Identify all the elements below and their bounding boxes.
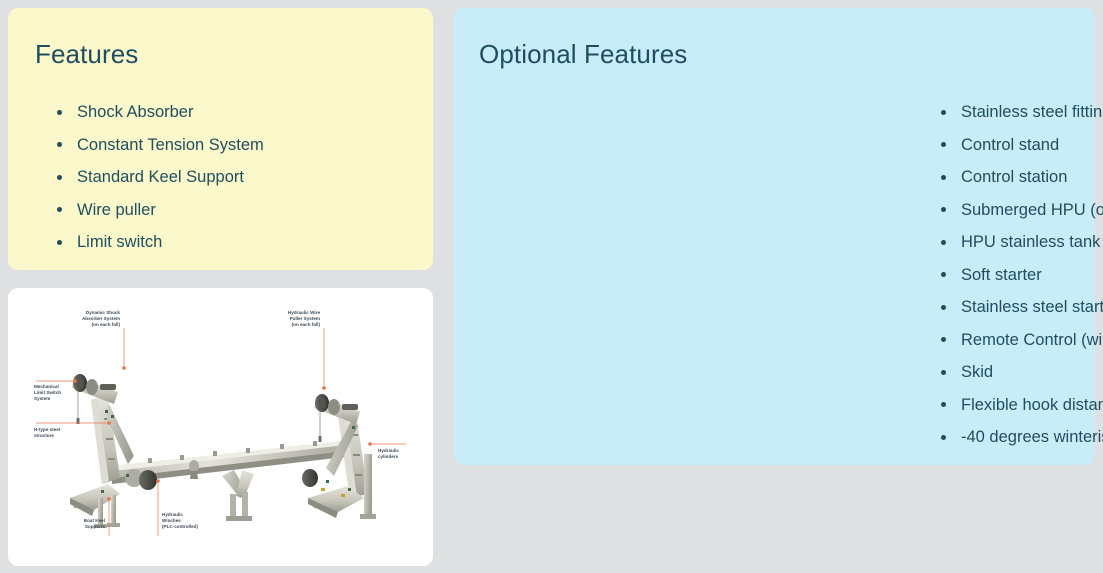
list-item: Soft starter <box>937 259 1103 292</box>
list-item: Flexible hook distance <box>937 389 1103 422</box>
annotation-label: Puller System <box>290 316 320 321</box>
davit-system-diagram: Dynamic Shock Absorber System (on each f… <box>8 288 433 566</box>
features-list: Shock Absorber Constant Tension System S… <box>53 96 264 259</box>
annotation-label: Mechanical <box>34 384 59 389</box>
list-item: Skid <box>937 356 1103 389</box>
list-item-label: Submerged HPU (or top mounted for outdoo… <box>961 201 1103 219</box>
list-item-label: Shock Absorber <box>77 103 193 121</box>
bullet-icon <box>57 207 62 212</box>
bullet-icon <box>941 175 946 180</box>
list-item: Shock Absorber <box>53 96 264 129</box>
list-item-label: Flexible hook distance <box>961 396 1103 414</box>
list-item-label: Control stand <box>961 136 1059 154</box>
bullet-icon <box>941 272 946 277</box>
annotation-label: Dynamic Shock <box>86 310 121 315</box>
list-item: -40 degrees winterisation <box>937 421 1103 454</box>
bullet-icon <box>941 402 946 407</box>
features-panel: Features Shock Absorber Constant Tension… <box>8 8 433 270</box>
optional-features-panel-title: Optional Features <box>479 39 687 70</box>
optional-features-panel: Optional Features Stainless steel fittin… <box>454 8 1095 465</box>
annotation-dynamic-shock-absorber: Dynamic Shock Absorber System (on each f… <box>82 310 126 370</box>
list-item: Submerged HPU (or top mounted for outdoo… <box>937 194 1103 227</box>
list-item-label: Limit switch <box>77 233 162 251</box>
list-item: Limit switch <box>53 226 264 259</box>
list-item-label: Constant Tension System <box>77 136 264 154</box>
annotation-label: structure <box>34 433 54 438</box>
bullet-icon <box>941 435 946 440</box>
list-item-label: Soft starter <box>961 266 1042 284</box>
bullet-icon <box>941 337 946 342</box>
bullet-icon <box>57 175 62 180</box>
list-item: Wire puller <box>53 194 264 227</box>
bullet-icon <box>941 110 946 115</box>
annotation-label: Boat Keel <box>84 518 105 523</box>
list-item: HPU stainless tank <box>937 226 1103 259</box>
list-item: Stainless steel fittings <box>937 96 1103 129</box>
annotation-label: H-type steel <box>34 427 60 432</box>
page-root: Features Shock Absorber Constant Tension… <box>0 0 1103 573</box>
bullet-icon <box>57 240 62 245</box>
list-item-label: Standard Keel Support <box>77 168 244 186</box>
list-item-label: -40 degrees winterisation <box>961 428 1103 446</box>
list-item: Control station <box>937 161 1103 194</box>
list-item-label: Skid <box>961 363 993 381</box>
list-item-label: Control station <box>961 168 1067 186</box>
annotation-label: (on each fall) <box>292 322 321 327</box>
list-item: Constant Tension System <box>53 129 264 162</box>
bullet-icon <box>941 142 946 147</box>
list-item-label: Remote Control (wired or wireless) <box>961 331 1103 349</box>
annotation-label: Hydraulic <box>378 448 399 453</box>
list-item-label: Stainless steel fittings <box>961 103 1103 121</box>
bullet-icon <box>941 240 946 245</box>
annotation-label: Hydraulic <box>162 512 183 517</box>
list-item: Control stand <box>937 129 1103 162</box>
annotation-mechanical-limit-switch: Mechanical Limit Switch System <box>34 379 77 401</box>
list-item-label: Stainless steel starter for outdoor plac… <box>961 298 1103 316</box>
list-item-label: HPU stainless tank <box>961 233 1100 251</box>
bullet-icon <box>57 142 62 147</box>
annotation-hydraulic-winches: Hydraulic Winches (PLC-controlled) <box>156 479 198 536</box>
annotation-label: Hydraulic Wire <box>288 310 321 315</box>
list-item-label: Wire puller <box>77 201 156 219</box>
annotation-label: (PLC-controlled) <box>162 524 198 529</box>
features-panel-title: Features <box>35 39 138 70</box>
annotation-hydraulic-wire-puller: Hydraulic Wire Puller System (on each fa… <box>288 310 326 390</box>
list-item: Remote Control (wired or wireless) <box>937 324 1103 357</box>
annotation-hydraulic-cylinders: Hydraulic cylinders <box>368 442 406 459</box>
annotation-label: cylinders <box>378 454 399 459</box>
annotation-label: System <box>34 396 50 401</box>
annotation-label: (on each fall) <box>92 322 121 327</box>
optional-features-list: Stainless steel fittings Control stand C… <box>937 96 1103 454</box>
product-diagram-card: Dynamic Shock Absorber System (on each f… <box>8 288 433 566</box>
annotation-label: Absorber System <box>82 316 120 321</box>
list-item: Standard Keel Support <box>53 161 264 194</box>
annotation-label: Supports <box>85 524 106 529</box>
annotation-label: Limit Switch <box>34 390 61 395</box>
bullet-icon <box>57 110 62 115</box>
bullet-icon <box>941 305 946 310</box>
bullet-icon <box>941 207 946 212</box>
list-item: Stainless steel starter for outdoor plac… <box>937 291 1103 324</box>
bullet-icon <box>941 370 946 375</box>
machine-render <box>70 374 376 528</box>
annotation-label: Winches <box>162 518 181 523</box>
